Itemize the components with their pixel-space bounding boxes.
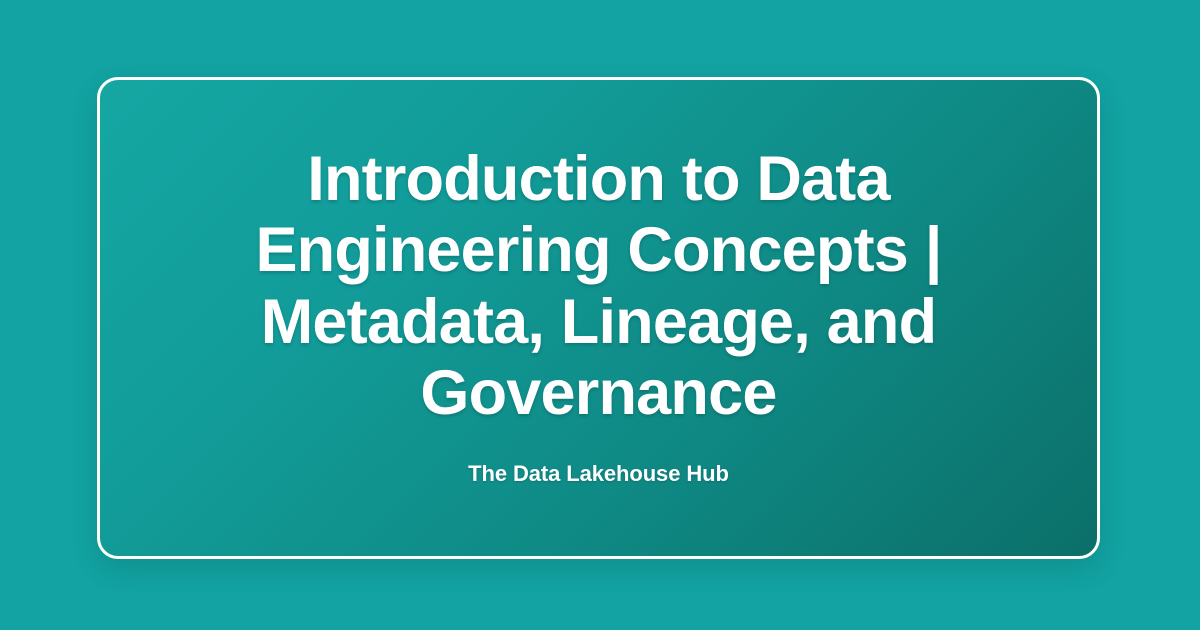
hero-card: Introduction to Data Engineering Concept… bbox=[97, 77, 1100, 559]
social-share-card-canvas: Introduction to Data Engineering Concept… bbox=[0, 0, 1200, 630]
site-name-subtitle: The Data Lakehouse Hub bbox=[154, 460, 1043, 489]
page-title: Introduction to Data Engineering Concept… bbox=[154, 144, 1043, 430]
